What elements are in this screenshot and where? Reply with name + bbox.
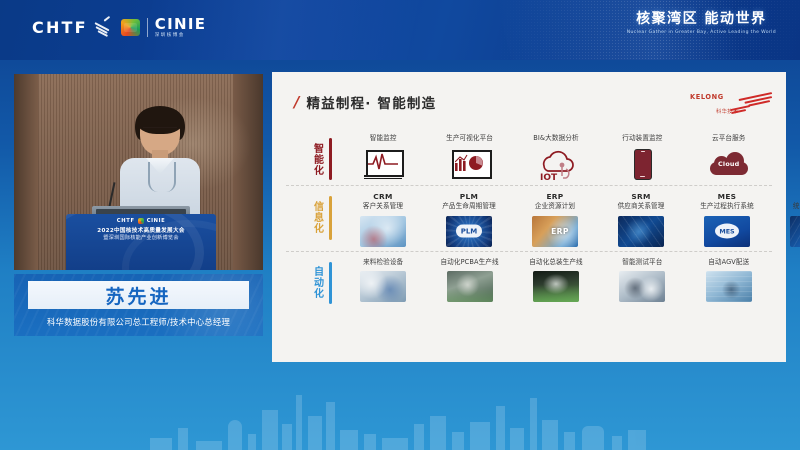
iot-cloud-icon: IOT xyxy=(533,148,579,181)
agv-photo xyxy=(706,271,752,302)
item-caption: 自动化PCBA生产线 xyxy=(440,258,498,268)
speaker-role-box: 科华数据股份有限公司总工程师/技术中心总经理 xyxy=(28,313,249,330)
slogan-chinese: 核聚湾区 能动世界 xyxy=(627,12,776,26)
matrix-item[interactable]: 云平台服务 Cloud xyxy=(686,134,772,181)
matrix-item[interactable]: ERP 企业资源计划 ERP xyxy=(512,192,598,247)
crm-photo xyxy=(360,216,406,247)
test-platform-photo xyxy=(619,271,665,302)
inspection-photo xyxy=(360,271,406,302)
event-logo-group: CHTF CINIE 深圳核博会 xyxy=(32,17,206,39)
assembly-line-photo xyxy=(533,271,579,302)
matrix-item[interactable]: 生产可视化平台 xyxy=(427,134,513,181)
matrix-item[interactable]: OA 统一移动办公 xyxy=(770,192,800,247)
item-subtitle: 产品生命周期管理 xyxy=(442,202,496,210)
slide-title-group: / 精益制程· 智能制造 xyxy=(294,92,436,112)
podium-cinie-logo: CINIE xyxy=(147,218,166,224)
podium-sign: CHTF CINIE 2022中国核技术高质量发展大会 暨深圳国际核能产业创新博… xyxy=(78,218,204,243)
podium: CHTF CINIE 2022中国核技术高质量发展大会 暨深圳国际核能产业创新博… xyxy=(66,214,216,270)
item-caption: 智能测试平台 xyxy=(622,258,662,268)
event-header-bar: CHTF CINIE 深圳核博会 核聚湾区 能动世界 Nuclear Gathe… xyxy=(0,0,800,60)
kelong-brand-logo: KELONG 科华技术 xyxy=(688,88,772,118)
matrix-item[interactable]: PLM 产品生命周期管理 PLM xyxy=(426,192,512,247)
matrix-item[interactable]: 自动化PCBA生产线 xyxy=(427,258,513,303)
kelong-brand-name: KELONG xyxy=(690,93,724,101)
item-caption: OA 统一移动办公 xyxy=(793,192,800,212)
matrix-row-intelligent: 智能化 智能监控 生产可视化平台 xyxy=(286,128,772,186)
item-title: OA xyxy=(793,192,800,203)
row-label-text: 自动化 xyxy=(311,266,323,299)
matrix-item[interactable]: SRM 供应商关系管理 xyxy=(598,192,684,247)
matrix-item[interactable]: CRM 客户关系管理 xyxy=(340,192,426,247)
item-title: MES xyxy=(700,192,754,203)
plm-photo: PLM xyxy=(446,216,492,247)
item-title: PLM xyxy=(442,192,496,203)
matrix-item[interactable]: 智能测试平台 xyxy=(599,258,685,303)
cinie-logo-text: CINIE xyxy=(155,17,206,32)
row-label-automation: 自动化 xyxy=(286,258,332,304)
item-subtitle: 统一移动办公 xyxy=(793,202,800,210)
matrix-item[interactable]: BI&大数据分析 IOT xyxy=(513,134,599,181)
slogan-english: Nuclear Gather in Greater Bay, Active Le… xyxy=(627,30,776,35)
mobile-phone-icon xyxy=(619,148,665,181)
matrix-item[interactable]: 自动AGV配送 xyxy=(686,258,772,303)
speaker-video-feed[interactable]: CHTF CINIE 2022中国核技术高质量发展大会 暨深圳国际核能产业创新博… xyxy=(14,74,263,270)
matrix-item[interactable]: 来料检验设备 xyxy=(340,258,426,303)
mes-badge: MES xyxy=(715,224,739,239)
logo-divider xyxy=(147,18,148,37)
item-caption: 生产可视化平台 xyxy=(446,134,493,144)
item-subtitle: 供应商关系管理 xyxy=(618,202,665,210)
monitor-waveform-icon xyxy=(360,148,406,181)
row-label-intelligent: 智能化 xyxy=(286,134,332,180)
item-caption: 自动AGV配送 xyxy=(708,258,749,268)
pcba-line-photo xyxy=(447,271,493,302)
city-skyline-watermark xyxy=(0,370,800,450)
plm-badge: PLM xyxy=(456,225,482,238)
item-title: ERP xyxy=(535,192,575,203)
cinie-emblem-icon xyxy=(121,19,140,36)
podium-chtf-logo: CHTF xyxy=(117,218,135,224)
row-items-automation: 来料检验设备 自动化PCBA生产线 xyxy=(332,258,772,303)
podium-sign-line2: 暨深圳国际核能产业创新博览会 xyxy=(78,235,204,243)
cinie-logo-subtext: 深圳核博会 xyxy=(155,34,206,39)
item-caption: 自动化总装生产线 xyxy=(529,258,583,268)
item-caption: ERP 企业资源计划 xyxy=(535,192,575,212)
item-title: SRM xyxy=(618,192,665,203)
matrix-item[interactable]: 自动化总装生产线 xyxy=(513,258,599,303)
row-label-informatization: 信息化 xyxy=(286,192,332,240)
item-caption: SRM 供应商关系管理 xyxy=(618,192,665,212)
item-title: CRM xyxy=(363,192,403,203)
row-label-text: 信息化 xyxy=(311,201,323,234)
slide-title: 精益制程· 智能制造 xyxy=(306,92,436,112)
speaker-glasses-icon xyxy=(143,127,177,136)
row-label-text: 智能化 xyxy=(311,143,323,176)
erp-photo: ERP xyxy=(532,216,578,247)
presentation-slide: / 精益制程· 智能制造 KELONG 科华技术 智能化 智能监控 xyxy=(272,72,786,362)
capability-matrix: 智能化 智能监控 生产可视化平台 xyxy=(286,128,772,308)
matrix-item[interactable]: 行动装置监控 xyxy=(599,134,685,181)
cloud-icon: Cloud xyxy=(706,148,752,181)
item-caption: MES 生产过程执行系统 xyxy=(700,192,754,212)
item-subtitle: 企业资源计划 xyxy=(535,202,575,210)
row-items-informatization: CRM 客户关系管理 PLM 产品生命周期管理 xyxy=(332,192,800,247)
screen-root: CHTF CINIE 深圳核博会 核聚湾区 能动世界 Nuclear Gathe… xyxy=(0,0,800,450)
slide-title-slash: / xyxy=(294,95,299,110)
speaker-name: 苏先进 xyxy=(105,282,171,309)
podium-emblem-icon xyxy=(138,218,144,224)
row-items-intelligent: 智能监控 生产可视化平台 xyxy=(332,134,772,181)
matrix-row-informatization: 信息化 CRM 客户关系管理 xyxy=(286,186,772,252)
speaker-name-box: 苏先进 xyxy=(28,281,249,309)
event-slogan: 核聚湾区 能动世界 Nuclear Gather in Greater Bay,… xyxy=(627,12,776,35)
matrix-item[interactable]: MES 生产过程执行系统 MES xyxy=(684,192,770,247)
item-caption: BI&大数据分析 xyxy=(533,134,578,144)
video-wall-left-panel xyxy=(14,74,38,270)
srm-photo xyxy=(618,216,664,247)
matrix-row-automation: 自动化 来料检验设备 自动化PCBA生产线 xyxy=(286,252,772,308)
speaker-name-plate: 苏先进 科华数据股份有限公司总工程师/技术中心总经理 xyxy=(14,274,263,336)
chart-dashboard-icon xyxy=(447,148,493,181)
speaker-lanyard xyxy=(148,162,176,192)
item-caption: 来料检验设备 xyxy=(363,258,403,268)
svg-text:IOT: IOT xyxy=(540,173,558,182)
item-caption: PLM 产品生命周期管理 xyxy=(442,192,496,212)
speaker-role: 科华数据股份有限公司总工程师/技术中心总经理 xyxy=(47,316,230,328)
chtf-comet-icon xyxy=(95,19,114,36)
item-caption: 云平台服务 xyxy=(712,134,745,144)
cinie-logo-group: CINIE 深圳核博会 xyxy=(155,17,206,39)
oa-photo xyxy=(790,216,800,247)
item-caption: 行动装置监控 xyxy=(622,134,662,144)
item-subtitle: 生产过程执行系统 xyxy=(700,202,754,210)
item-caption: CRM 客户关系管理 xyxy=(363,192,403,212)
item-caption: 智能监控 xyxy=(370,134,397,144)
matrix-item[interactable]: 智能监控 xyxy=(340,134,426,181)
erp-badge: ERP xyxy=(542,216,578,247)
mes-photo: MES xyxy=(704,216,750,247)
item-subtitle: 客户关系管理 xyxy=(363,202,403,210)
cloud-icon-label: Cloud xyxy=(708,160,750,168)
chtf-logo-text: CHTF xyxy=(32,20,88,36)
